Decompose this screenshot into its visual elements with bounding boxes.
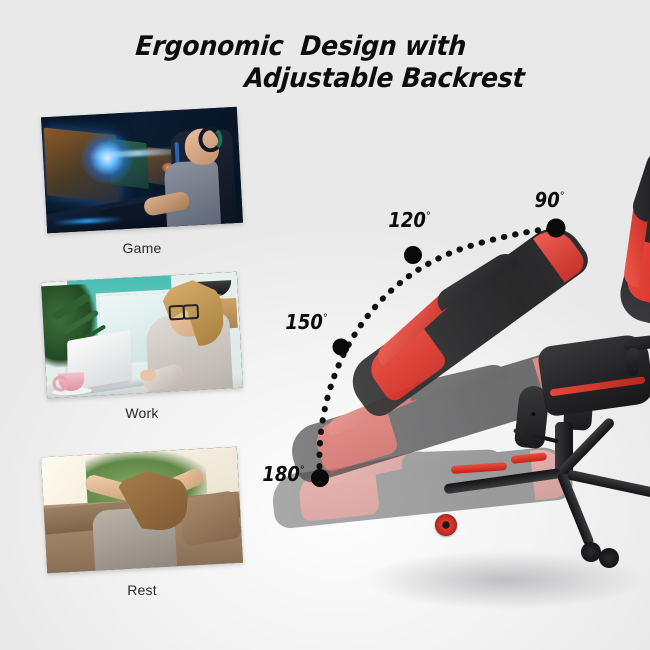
- product-feature-banner: Ergonomic Design with Adjustable Backres…: [0, 0, 650, 650]
- node-120: [404, 246, 422, 264]
- worker-hand: [140, 369, 157, 381]
- title-line-2: Adjustable Backrest: [21, 62, 628, 96]
- thumbnail-game: [41, 107, 243, 233]
- caption-work: Work: [44, 405, 240, 421]
- degree-symbol: °: [560, 189, 565, 202]
- node-180: [311, 469, 329, 487]
- angle-value-180: 180: [262, 462, 300, 486]
- use-case-card-game: Game: [44, 112, 240, 228]
- node-90: [547, 219, 566, 238]
- use-case-card-work: Work: [44, 277, 240, 393]
- degree-symbol: °: [300, 463, 305, 476]
- angle-value-120: 120: [388, 208, 426, 232]
- recline-angle-diagram: 90° 120° 150° 180°: [255, 150, 650, 650]
- angle-arc: [255, 150, 650, 650]
- eyeglasses-icon: [168, 304, 199, 317]
- page-title: Ergonomic Design with Adjustable Backres…: [0, 32, 650, 96]
- caption-game: Game: [44, 240, 240, 256]
- degree-symbol: °: [426, 209, 431, 222]
- angle-label-150: 150°: [285, 310, 328, 334]
- scene-rest: [41, 447, 243, 573]
- angle-label-120: 120°: [388, 208, 431, 232]
- node-150: [333, 339, 350, 356]
- use-case-card-rest: Rest: [44, 452, 240, 568]
- angle-label-180: 180°: [262, 462, 305, 486]
- title-line-1: Ergonomic Design with: [22, 32, 629, 62]
- degree-symbol: °: [323, 311, 328, 324]
- thumbnail-work: [41, 272, 243, 398]
- arc-dotted-path: [319, 228, 557, 478]
- angle-value-150: 150: [285, 310, 323, 334]
- angle-label-90: 90°: [535, 188, 565, 212]
- thumbnail-rest: [41, 447, 243, 573]
- scene-game: [41, 107, 243, 233]
- angle-value-90: 90: [535, 188, 560, 212]
- caption-rest: Rest: [44, 582, 240, 598]
- scene-work: [41, 272, 243, 398]
